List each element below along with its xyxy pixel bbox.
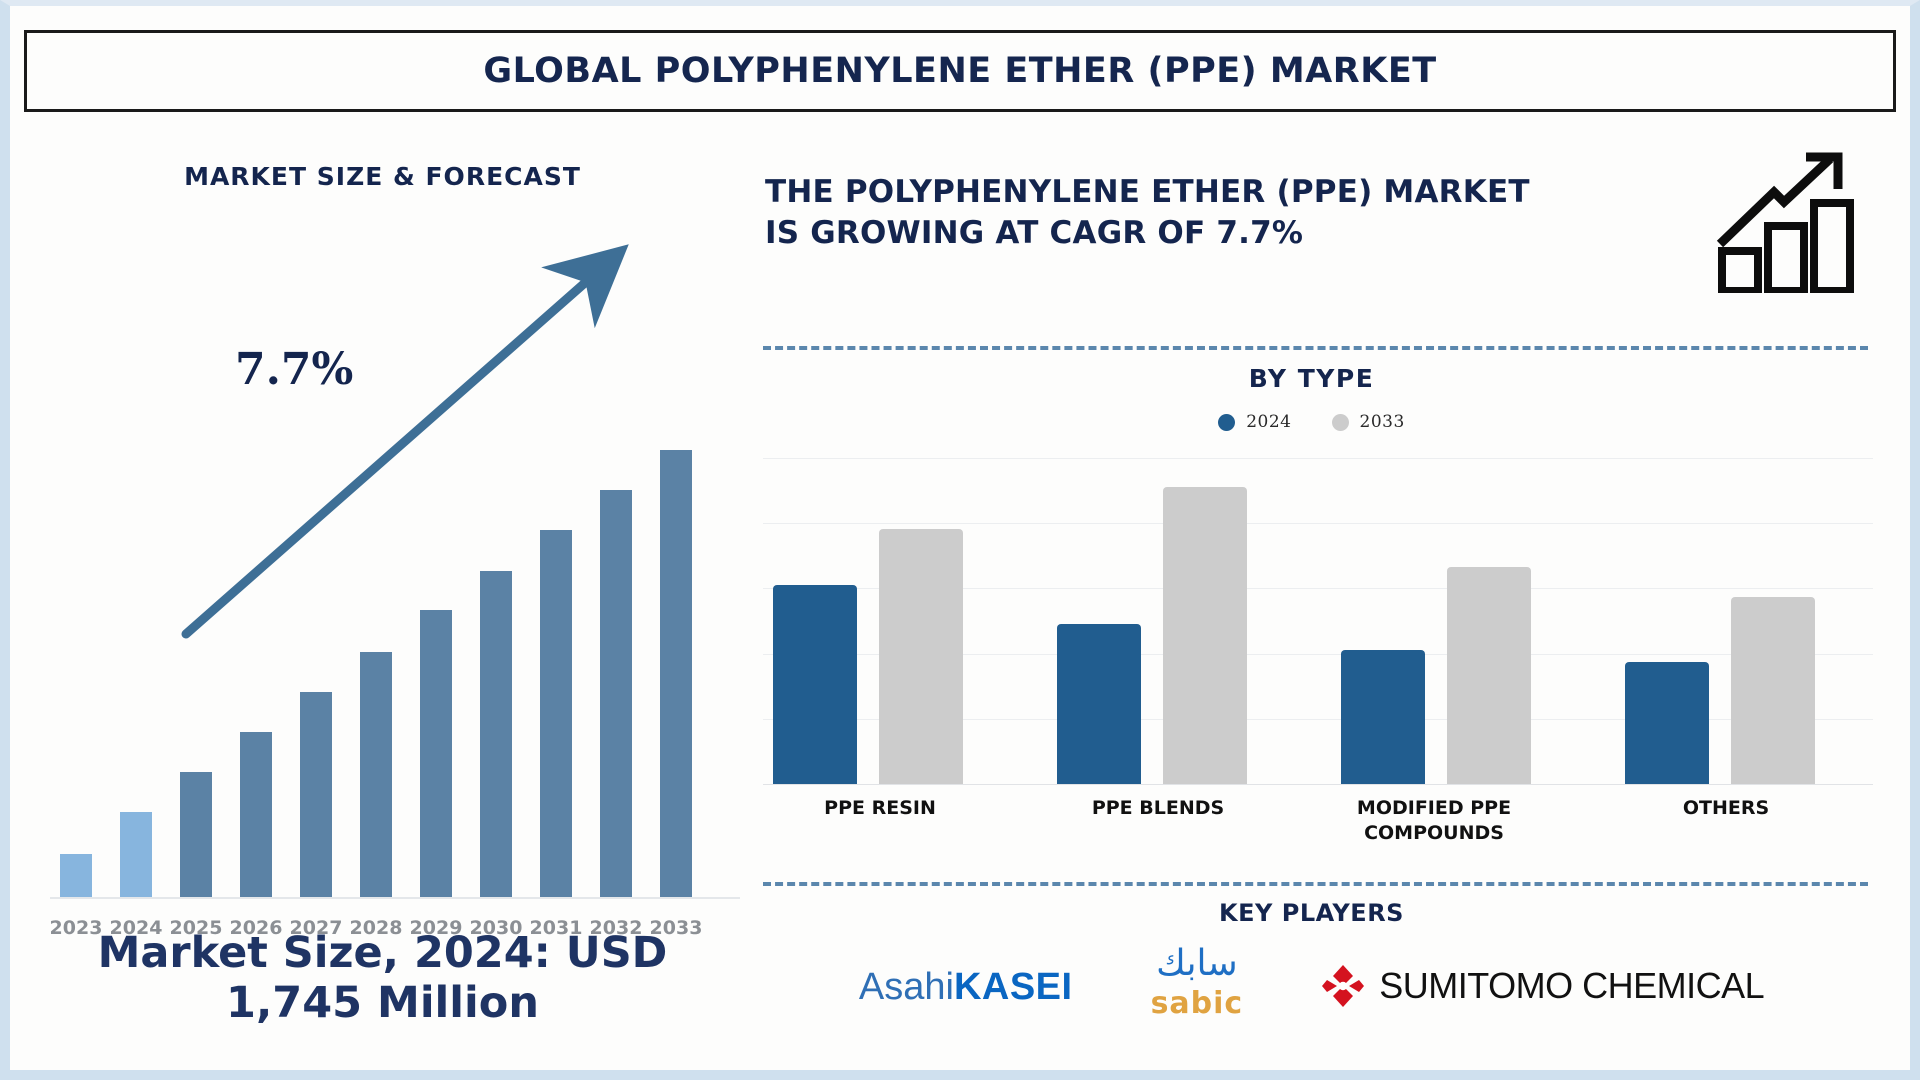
logo-sumitomo-chemical: SUMITOMO CHEMICAL: [1321, 946, 1764, 1008]
market-size-line-2: 1,745 Million: [226, 978, 539, 1028]
sumitomo-chemical-wordmark: SUMITOMO CHEMICAL: [1379, 965, 1764, 1007]
infographic-inner: GLOBAL POLYPHENYLENE ETHER (PPE) MARKET …: [10, 6, 1910, 1070]
bar-2023: [60, 854, 92, 897]
divider-bottom: [763, 882, 1868, 886]
bar-2032: [600, 490, 632, 897]
bar-others-2033: [1731, 597, 1815, 784]
category-label-modified-ppe-compounds: MODIFIED PPE COMPOUNDS: [1319, 796, 1549, 846]
legend-item-2024[interactable]: 2024: [1218, 412, 1291, 432]
bar-2025: [180, 772, 212, 897]
bar-ppe-blends-2033: [1163, 487, 1247, 784]
bar-2027: [300, 692, 332, 897]
bar-2030: [480, 571, 512, 897]
bar-ppe-resin-2024: [773, 585, 857, 784]
by-type-chart: PPE RESIN PPE BLENDS MODIFIED PPE COMPOU…: [763, 458, 1873, 826]
key-players-title: KEY PLAYERS: [755, 899, 1868, 927]
bar-others-2024: [1625, 662, 1709, 784]
bar-2028: [360, 652, 392, 897]
bar-modified-ppe-compounds-2024: [1341, 650, 1425, 784]
chart-legend: 2024 2033: [755, 412, 1868, 432]
page-title: GLOBAL POLYPHENYLENE ETHER (PPE) MARKET: [483, 51, 1436, 91]
market-size-forecast-panel: MARKET SIZE & FORECAST 7.7%: [10, 124, 755, 1064]
bar-2024: [120, 812, 152, 897]
legend-label-2024: 2024: [1246, 412, 1291, 432]
title-banner: GLOBAL POLYPHENYLENE ETHER (PPE) MARKET: [24, 30, 1896, 112]
sabic-latin-wordmark: sabic: [1151, 986, 1244, 1021]
legend-item-2033[interactable]: 2033: [1332, 412, 1405, 432]
bar-2026: [240, 732, 272, 897]
sabic-arabic-wordmark: سابك: [1156, 946, 1238, 982]
by-type-bars: [763, 458, 1873, 784]
growth-arrow-bars-icon: [1712, 148, 1862, 293]
bar-modified-ppe-compounds-2033: [1447, 567, 1531, 784]
logo-asahi-kasei: AsahiKASEI: [859, 946, 1073, 1009]
sumitomo-diamond-icon: [1321, 964, 1365, 1008]
divider-top: [763, 346, 1868, 350]
market-size-forecast-chart: 7.7%: [50, 184, 740, 949]
market-size-line-1: Market Size, 2024: USD: [98, 928, 668, 978]
market-size-callout: Market Size, 2024: USD 1,745 Million: [10, 929, 755, 1029]
bar-ppe-resin-2033: [879, 529, 963, 784]
category-label-ppe-resin: PPE RESIN: [755, 796, 1005, 821]
chart-baseline: [50, 897, 740, 899]
headline-line-2: IS GROWING AT CAGR OF 7.7%: [765, 215, 1303, 251]
logo-sabic: سابك sabic: [1151, 946, 1244, 1021]
by-type-category-labels: PPE RESIN PPE BLENDS MODIFIED PPE COMPOU…: [763, 796, 1873, 866]
headline-line-1: THE POLYPHENYLENE ETHER (PPE) MARKET: [765, 174, 1530, 210]
key-players-logos: AsahiKASEI سابك sabic SUMITOMO CHEMICAL: [755, 946, 1868, 1076]
category-label-others: OTHERS: [1601, 796, 1851, 821]
asahi-kasei-part-1: Asahi: [859, 966, 954, 1008]
category-label-ppe-blends: PPE BLENDS: [1033, 796, 1283, 821]
segment-title: BY TYPE: [755, 364, 1868, 393]
infographic-page: GLOBAL POLYPHENYLENE ETHER (PPE) MARKET …: [0, 0, 1920, 1080]
by-type-baseline: [763, 784, 1873, 785]
legend-dot-2024: [1218, 414, 1235, 431]
bar-ppe-blends-2024: [1057, 624, 1141, 784]
growth-headline: THE POLYPHENYLENE ETHER (PPE) MARKET IS …: [765, 172, 1665, 254]
forecast-bars: [50, 257, 740, 897]
bar-2033: [660, 450, 692, 897]
bar-2029: [420, 610, 452, 897]
legend-dot-2033: [1332, 414, 1349, 431]
bar-2031: [540, 530, 572, 897]
legend-label-2033: 2033: [1360, 412, 1405, 432]
segment-panel: THE POLYPHENYLENE ETHER (PPE) MARKET IS …: [755, 124, 1920, 1074]
asahi-kasei-part-2: KASEI: [954, 966, 1073, 1008]
